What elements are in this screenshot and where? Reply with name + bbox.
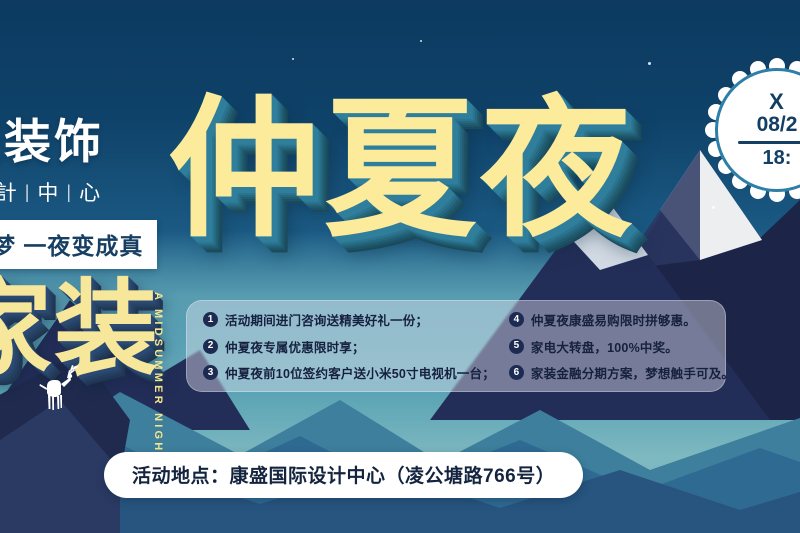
offer-item: 1 活动期间进门咨询送精美好礼一份； [203, 310, 495, 329]
offers-column-left: 1 活动期间进门咨询送精美好礼一份； 2 仲夏夜专属优惠限时享； 3 仲夏夜前1… [203, 310, 495, 382]
offer-number-badge: 4 [509, 312, 524, 327]
brand-name: 盛装饰 [0, 118, 204, 165]
seal-divider [738, 141, 800, 144]
brand-sub-char: 心 [79, 177, 102, 207]
brand-sub-separator: | [25, 182, 32, 203]
offers-panel: 1 活动期间进门咨询送精美好礼一份； 2 仲夏夜专属优惠限时享； 3 仲夏夜前1… [186, 300, 726, 392]
offer-number-badge: 1 [203, 312, 218, 327]
offers-column-right: 4 仲夏夜康盛易购限时拼够惠。 5 家电大转盘，100%中奖。 6 家装金融分期… [495, 310, 734, 382]
offer-number-badge: 5 [509, 339, 524, 354]
offer-item: 3 仲夏夜前10位签约客户送小米50寸电视机一台； [203, 363, 495, 382]
address-pill: 活动地点：康盛国际设计中心（凌公塘路766号） [104, 452, 583, 498]
seal-time-text: 18: [763, 147, 792, 169]
seal-date-text: 08/2 [757, 113, 798, 136]
star-sparkle [420, 40, 422, 42]
star-sparkle [292, 58, 294, 60]
promo-poster: 盛装饰 設 | 計 | 中 | 心 装梦 一夜变成真 仲夏夜 家装 A MIDS… [0, 0, 800, 533]
headline-text: 仲夏夜 [168, 96, 636, 245]
offer-number-badge: 2 [203, 339, 218, 354]
offer-text: 活动期间进门咨询送精美好礼一份； [225, 310, 428, 329]
date-badge: X 08/2 18: [702, 55, 800, 205]
star-sparkle [648, 62, 651, 65]
brand-subtitle: 設 | 計 | 中 | 心 [0, 177, 204, 207]
offer-text: 仲夏夜前10位签约客户送小米50寸电视机一台； [225, 363, 495, 382]
offer-item: 6 家装金融分期方案，梦想触手可及。 [509, 363, 734, 382]
brand-sub-separator: | [66, 182, 73, 203]
offer-text: 仲夏夜专属优惠限时享； [225, 337, 365, 356]
seal-top-text: X [769, 91, 785, 113]
brand-sub-char: 計 [0, 177, 19, 207]
deer-icon [26, 358, 86, 418]
vertical-english-label: A MIDSUMMER NIGHT [152, 292, 164, 463]
offer-text: 家电大转盘，100%中奖。 [531, 337, 678, 356]
offer-item: 4 仲夏夜康盛易购限时拼够惠。 [509, 310, 734, 329]
brand-sub-char: 中 [37, 177, 60, 207]
star-sparkle [712, 206, 715, 209]
offer-item: 5 家电大转盘，100%中奖。 [509, 337, 734, 356]
offer-item: 2 仲夏夜专属优惠限时享； [203, 337, 495, 356]
brand-block: 盛装饰 設 | 計 | 中 | 心 装梦 一夜变成真 [0, 118, 204, 269]
offer-text: 仲夏夜康盛易购限时拼够惠。 [531, 310, 696, 329]
offer-number-badge: 6 [509, 365, 524, 380]
tagline-box: 装梦 一夜变成真 [0, 220, 157, 269]
offer-number-badge: 3 [203, 365, 218, 380]
offer-text: 家装金融分期方案，梦想触手可及。 [531, 363, 734, 382]
